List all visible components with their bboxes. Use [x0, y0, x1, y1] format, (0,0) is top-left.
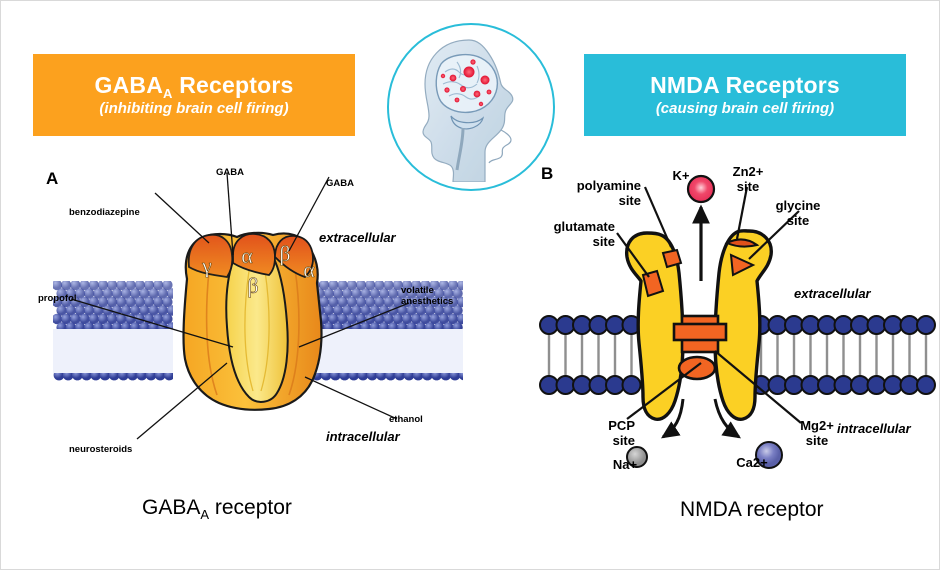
label-intracellular-a: intracellular: [326, 429, 400, 444]
label-neurosteroids: neurosteroids: [69, 445, 132, 456]
label-glutamate-site: glutamate site: [529, 220, 615, 250]
subunit-beta-center: β: [247, 273, 258, 298]
subunit-gamma: γ: [201, 253, 212, 278]
header-subtitle-gaba: (inhibiting brain cell firing): [99, 100, 288, 117]
label-gaba-right: GABA: [326, 179, 354, 190]
header-title-gaba-main: GABA: [95, 72, 164, 98]
label-benzodiazepine: benzodiazepine: [69, 208, 140, 219]
label-zinc-site: Zn2+ site: [723, 165, 773, 195]
label-volatile-anesthetics: volatile anesthetics: [401, 286, 453, 308]
label-extracellular-b: extracellular: [794, 286, 871, 301]
header-banner-gaba: GABAA Receptors (inhibiting brain cell f…: [33, 54, 355, 136]
label-pcp-site: PCP site: [591, 419, 635, 449]
nmda-bilayer-left: [540, 316, 641, 394]
panel-a-caption-subscript: A: [200, 507, 209, 522]
figure-canvas: GABAA Receptors (inhibiting brain cell f…: [0, 0, 940, 570]
label-ethanol: ethanol: [389, 415, 423, 426]
subunit-beta-right: β: [279, 241, 290, 266]
header-banner-nmda: NMDA Receptors (causing brain cell firin…: [584, 54, 906, 136]
label-propofol: propofol: [38, 294, 77, 305]
label-polyamine-site: polyamine site: [557, 179, 641, 209]
label-ion-sodium: Na+: [603, 458, 647, 473]
brain-head-icon: [411, 32, 531, 182]
gaba-receptor-body: γ α β α β: [184, 233, 322, 410]
panel-a-caption-tail: receptor: [209, 496, 292, 519]
label-ion-potassium: K+: [663, 169, 699, 184]
label-glycine-site: glycine site: [769, 199, 827, 229]
label-intracellular-b: intracellular: [837, 421, 911, 436]
header-title-gaba-tail: Receptors: [173, 72, 294, 98]
label-magnesium-site: Mg2+ site: [793, 419, 841, 449]
label-gaba-left: GABA: [216, 168, 244, 179]
brain-head-badge: [387, 23, 555, 191]
header-title-nmda: NMDA Receptors: [650, 73, 840, 97]
label-ion-calcium: Ca2+: [725, 456, 779, 471]
panel-a-caption: GABAA receptor: [142, 496, 292, 520]
subunit-alpha-left: α: [241, 243, 253, 268]
panel-b-caption: NMDA receptor: [680, 498, 824, 522]
panel-a-caption-main: GABA: [142, 496, 200, 519]
header-subtitle-nmda: (causing brain cell firing): [656, 100, 834, 117]
subunit-alpha-right: α: [303, 257, 315, 282]
nmda-bilayer-right: [752, 316, 935, 394]
label-extracellular-a: extracellular: [319, 230, 396, 245]
header-title-gaba-subscript: A: [163, 86, 173, 101]
header-title-gaba: GABAA Receptors: [95, 73, 294, 97]
magnesium-block-marker: [674, 316, 726, 352]
polyamine-site-marker: [663, 250, 681, 267]
